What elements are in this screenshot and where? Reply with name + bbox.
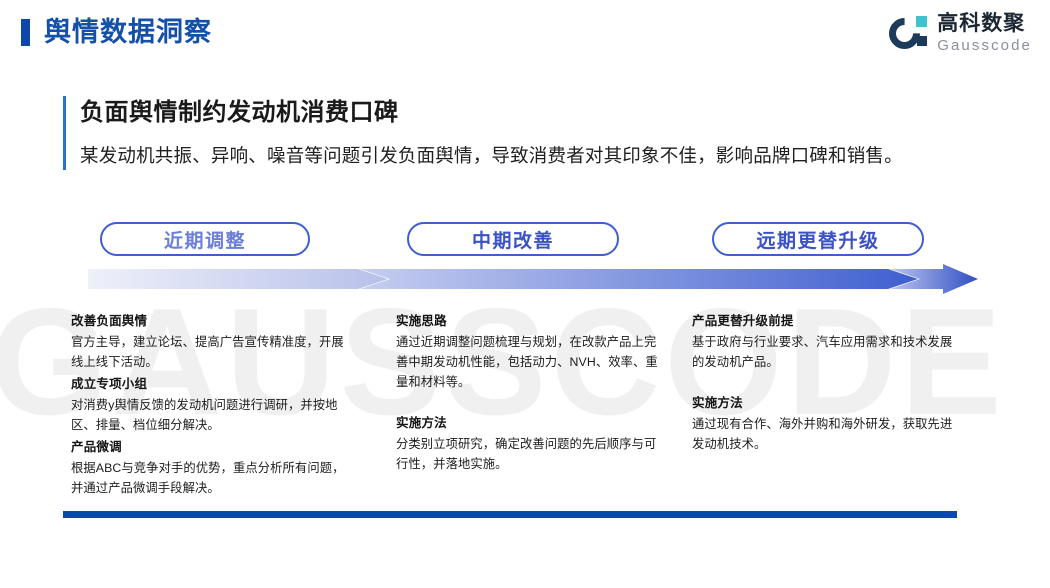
arrow-segment-1 (88, 269, 388, 289)
gausscode-logo-icon (888, 13, 928, 53)
title-block: 负面舆情制约发动机消费口碑 某发动机共振、异响、噪音等问题引发负面舆情，导致消费… (63, 96, 953, 170)
section-title: 产品微调 (71, 438, 356, 457)
section-block: 改善负面舆情 官方主导，建立论坛、提高广告宣传精准度，开展线上线下活动。 (71, 312, 356, 372)
section-title: 产品更替升级前提 (692, 312, 954, 331)
column-long-term: 产品更替升级前提 基于政府与行业要求、汽车应用需求和技术发展的发动机产品。 实施… (692, 312, 954, 454)
section-body: 基于政府与行业要求、汽车应用需求和技术发展的发动机产品。 (692, 332, 954, 372)
section-block: 实施思路 通过近期调整问题梳理与规划，在改款产品上完善中期发动机性能，包括动力、… (396, 312, 658, 392)
bottom-accent-bar (63, 511, 957, 518)
main-heading: 负面舆情制约发动机消费口碑 (80, 96, 953, 130)
section-block: 实施方法 通过现有合作、海外并购和海外研发，获取先进发动机技术。 (692, 394, 954, 454)
slide-canvas: GAUSSCODE 舆情数据洞察 高科数聚 Gausscode 负面舆情制约发动… (0, 0, 1050, 588)
brand-logo: 高科数聚 Gausscode (888, 13, 1032, 53)
timeline-arrow (88, 264, 978, 294)
section-title: 实施方法 (396, 414, 658, 433)
section-title: 改善负面舆情 (71, 312, 356, 331)
section-block: 实施方法 分类别立项研究，确定改善问题的先后顺序与可行性，并落地实施。 (396, 414, 658, 474)
section-body: 通过近期调整问题梳理与规划，在改款产品上完善中期发动机性能，包括动力、NVH、效… (396, 332, 658, 392)
content-columns: 改善负面舆情 官方主导，建立论坛、提高广告宣传精准度，开展线上线下活动。 成立专… (0, 312, 1050, 502)
phase-pill-row: 近期调整 中期改善 远期更替升级 (0, 222, 1050, 258)
logo-teal-square-shape (916, 16, 927, 27)
logo-name-en: Gausscode (937, 38, 1032, 53)
column-mid-term: 实施思路 通过近期调整问题梳理与规划，在改款产品上完善中期发动机性能，包括动力、… (396, 312, 658, 474)
phase-pill-near-term[interactable]: 近期调整 (100, 222, 310, 256)
logo-wordmark: 高科数聚 Gausscode (937, 13, 1032, 53)
section-body: 官方主导，建立论坛、提高广告宣传精准度，开展线上线下活动。 (71, 332, 356, 372)
sub-heading: 某发动机共振、异响、噪音等问题引发负面舆情，导致消费者对其印象不佳，影响品牌口碑… (80, 142, 953, 170)
section-title: 成立专项小组 (71, 375, 356, 394)
phase-pill-mid-term[interactable]: 中期改善 (407, 222, 619, 256)
section-body: 通过现有合作、海外并购和海外研发，获取先进发动机技术。 (692, 414, 954, 454)
column-near-term: 改善负面舆情 官方主导，建立论坛、提高广告宣传精准度，开展线上线下活动。 成立专… (71, 312, 356, 498)
header-bullet-icon (21, 19, 30, 46)
logo-name-cn: 高科数聚 (937, 13, 1032, 34)
section-block: 产品更替升级前提 基于政府与行业要求、汽车应用需求和技术发展的发动机产品。 (692, 312, 954, 372)
section-block: 产品微调 根据ABC与竞争对手的优势，重点分析所有问题，并通过产品微调手段解决。 (71, 438, 356, 498)
phase-pill-long-term[interactable]: 远期更替升级 (712, 222, 924, 256)
logo-dark-square-shape (917, 36, 927, 46)
section-block: 成立专项小组 对消费y舆情反馈的发动机问题进行调研，并按地区、排量、档位细分解决… (71, 375, 356, 435)
section-body: 根据ABC与竞争对手的优势，重点分析所有问题，并通过产品微调手段解决。 (71, 458, 356, 498)
arrow-segment-2 (360, 269, 918, 289)
page-title: 舆情数据洞察 (44, 14, 212, 50)
section-body: 对消费y舆情反馈的发动机问题进行调研，并按地区、排量、档位细分解决。 (71, 395, 356, 435)
section-title: 实施思路 (396, 312, 658, 331)
section-title: 实施方法 (692, 394, 954, 413)
section-body: 分类别立项研究，确定改善问题的先后顺序与可行性，并落地实施。 (396, 434, 658, 474)
